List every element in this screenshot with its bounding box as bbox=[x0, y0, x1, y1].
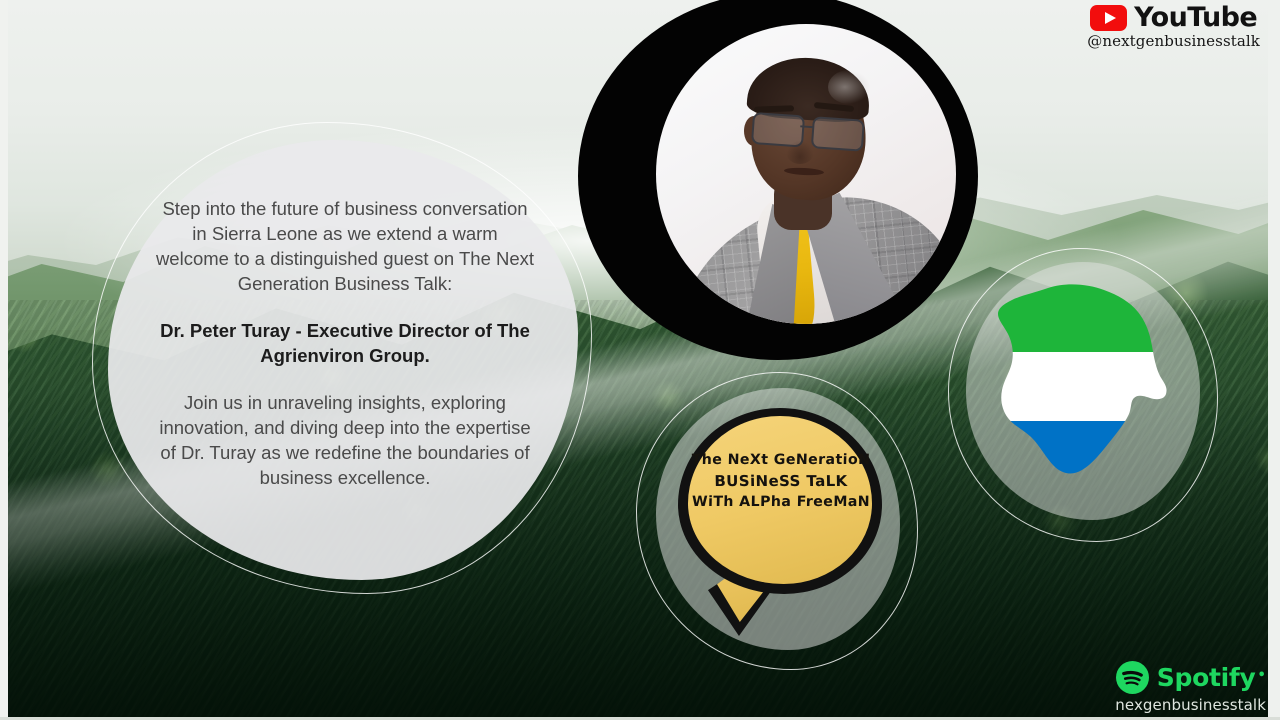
frame-edge-right bbox=[1268, 0, 1280, 720]
show-logo-line-1: The NeXt GeNeratioN bbox=[684, 450, 879, 471]
youtube-badge[interactable]: YouTube @nextgenbusinesstalk bbox=[1081, 2, 1266, 53]
portrait-nose bbox=[786, 140, 814, 164]
spotify-wordmark: Spotify bbox=[1157, 665, 1256, 690]
show-logo-line-3: WiTh ALPha FreeMaN bbox=[684, 492, 878, 513]
announcement-text: Step into the future of business convers… bbox=[154, 196, 536, 490]
sierra-leone-map bbox=[948, 248, 1218, 544]
spotify-icon bbox=[1116, 661, 1149, 694]
show-logo: The NeXt GeNeratioN BUSiNeSS TaLK WiTh A… bbox=[636, 372, 918, 672]
youtube-play-icon bbox=[1090, 5, 1127, 31]
spotify-handle[interactable]: nexgenbusinesstalk bbox=[1115, 696, 1266, 714]
show-logo-line-2: BUSiNeSS TaLK bbox=[684, 471, 878, 492]
flag-band-blue bbox=[978, 421, 1186, 490]
sierra-leone-map-icon bbox=[978, 282, 1186, 490]
spotify-logo: Spotify • bbox=[1116, 661, 1266, 694]
spotify-trademark: • bbox=[1257, 663, 1265, 688]
text-spacer bbox=[154, 296, 536, 318]
portrait-lens-right bbox=[811, 116, 865, 152]
spotify-badge[interactable]: Spotify • nexgenbusinesstalk bbox=[1115, 661, 1266, 714]
promo-graphic: Step into the future of business convers… bbox=[0, 0, 1280, 720]
youtube-handle[interactable]: @nextgenbusinesstalk bbox=[1087, 32, 1260, 50]
announcement-closing: Join us in unraveling insights, explorin… bbox=[154, 390, 536, 490]
guest-portrait bbox=[578, 0, 978, 362]
text-spacer bbox=[154, 368, 536, 390]
youtube-logo: YouTube bbox=[1090, 4, 1257, 31]
portrait-photo bbox=[656, 24, 956, 324]
show-logo-text: The NeXt GeNeratioN BUSiNeSS TaLK WiTh A… bbox=[684, 450, 878, 513]
flag-band-green bbox=[978, 282, 1186, 352]
portrait-hair-highlight bbox=[828, 70, 870, 104]
announcement-guest: Dr. Peter Turay - Executive Director of … bbox=[154, 318, 536, 368]
announcement-intro: Step into the future of business convers… bbox=[154, 196, 536, 296]
youtube-wordmark: YouTube bbox=[1134, 4, 1257, 31]
frame-edge-left bbox=[0, 0, 8, 720]
sierra-leone-flag-fill bbox=[978, 282, 1186, 490]
flag-band-white bbox=[978, 352, 1186, 421]
announcement-panel: Step into the future of business convers… bbox=[108, 140, 578, 580]
